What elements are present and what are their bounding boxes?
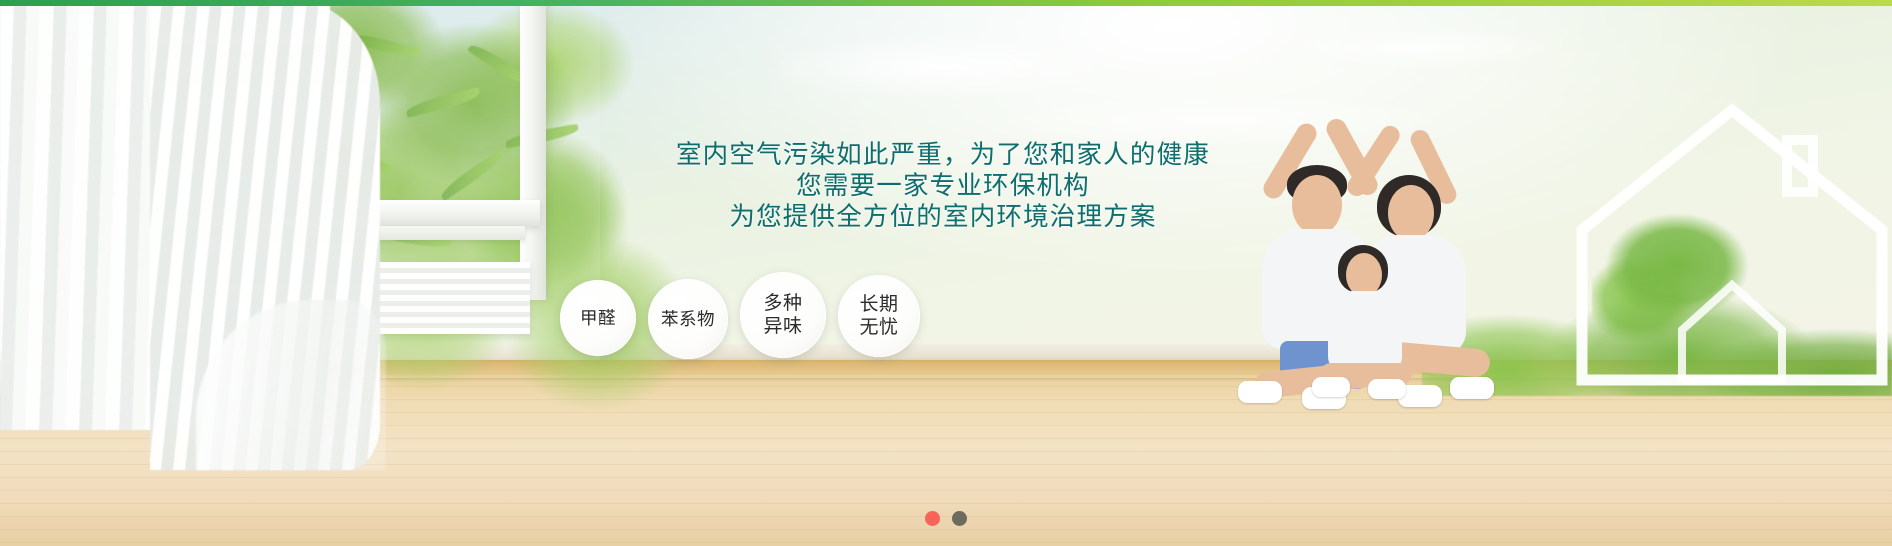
feature-circles: 甲醛 苯系物 多种 异味 长期 无忧 (560, 277, 932, 359)
feature-circle-long-term-worry-free[interactable]: 长期 无忧 (838, 275, 920, 357)
feature-circle-formaldehyde[interactable]: 甲醛 (560, 280, 636, 356)
feature-label: 苯系物 (661, 309, 715, 330)
child-right-shoe (1368, 379, 1406, 399)
carousel-dot-1[interactable] (925, 511, 940, 526)
feature-circle-multiple-odors[interactable]: 多种 异味 (740, 272, 826, 358)
father-head (1292, 175, 1342, 235)
family-photo-group (1192, 105, 1592, 435)
carousel-dot-2[interactable] (952, 511, 967, 526)
father-left-shoe (1238, 381, 1282, 403)
feature-label: 异味 (763, 315, 802, 338)
top-accent-strip (0, 0, 1892, 6)
child-shirt (1328, 291, 1402, 371)
feature-circle-benzene-series[interactable]: 苯系物 (648, 279, 728, 359)
feature-label: 甲醛 (580, 308, 616, 329)
mother-right-shoe (1450, 377, 1494, 399)
hero-carousel-banner[interactable]: 室内空气污染如此严重，为了您和家人的健康 您需要一家专业环保机构 为您提供全方位… (0, 0, 1892, 546)
window-post (520, 0, 546, 300)
carousel-pagination[interactable] (0, 511, 1892, 526)
child-left-shoe (1312, 377, 1350, 397)
mother-head (1388, 185, 1434, 241)
feature-label: 无忧 (859, 316, 898, 339)
feature-label: 多种 (763, 292, 802, 315)
feature-label: 长期 (859, 293, 898, 316)
